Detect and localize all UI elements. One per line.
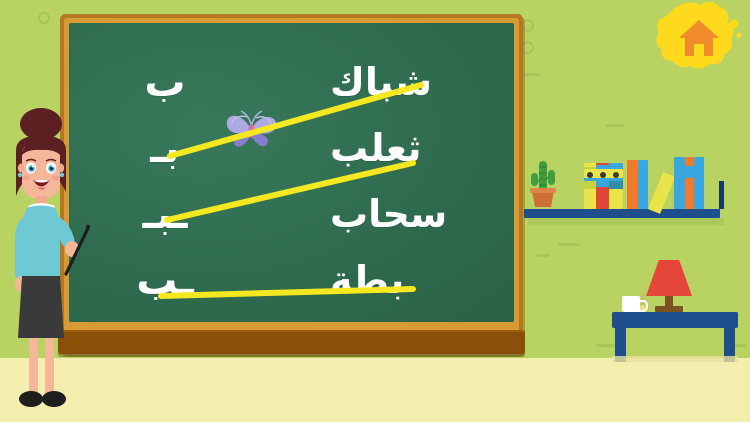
chalkboard-ledge xyxy=(58,332,525,354)
wall-doodle-dash xyxy=(606,124,624,127)
chalkboard: ب بـ ـبـ ـب شباك ثعلب سحاب بطة xyxy=(60,14,523,354)
book xyxy=(685,157,694,209)
lamp-shade xyxy=(646,260,692,296)
book xyxy=(609,189,623,209)
letter-form-isolated[interactable]: ب xyxy=(105,49,225,115)
word-text: سحاب xyxy=(330,195,447,233)
bookshelf xyxy=(524,146,724,218)
mug-handle xyxy=(638,300,648,312)
shelf-shadow xyxy=(528,218,724,225)
book xyxy=(674,157,685,209)
word-sahab[interactable]: سحاب xyxy=(330,181,500,247)
game-stage: ب بـ ـبـ ـب شباك ثعلب سحاب بطة xyxy=(0,0,750,422)
letter-glyph: ب xyxy=(144,62,185,103)
home-button[interactable] xyxy=(655,2,745,74)
word-text: بطة xyxy=(330,261,404,299)
words-column: شباك ثعلب سحاب بطة xyxy=(330,49,500,313)
book xyxy=(584,189,596,209)
book-tilted xyxy=(648,172,675,214)
teacher-character xyxy=(0,106,100,414)
shelf-plank xyxy=(524,209,720,218)
letter-glyph: ـبـ xyxy=(143,194,188,235)
table-top xyxy=(612,312,738,328)
word-text: شباك xyxy=(330,63,432,101)
book xyxy=(627,160,638,209)
book-dot xyxy=(587,172,593,178)
book-dot xyxy=(613,172,619,178)
butterfly-icon xyxy=(221,105,283,151)
word-batta[interactable]: بطة xyxy=(330,247,500,313)
shelf-bracket xyxy=(719,181,724,209)
letter-glyph: ـب xyxy=(136,260,193,301)
wall-doodle-dash xyxy=(558,243,580,246)
book xyxy=(694,157,704,209)
side-table-group xyxy=(612,256,742,362)
chalkboard-surface: ب بـ ـبـ ـب شباك ثعلب سحاب بطة xyxy=(69,23,514,322)
word-shubbak[interactable]: شباك xyxy=(330,49,500,115)
letter-forms-column: ب بـ ـبـ ـب xyxy=(105,49,225,313)
classroom-floor xyxy=(0,358,750,422)
letter-form-final[interactable]: ـب xyxy=(105,247,225,313)
table-shadow xyxy=(612,356,738,362)
letter-form-initial[interactable]: بـ xyxy=(105,115,225,181)
wall-doodle-dash xyxy=(536,254,550,257)
book-dot xyxy=(600,172,606,178)
book xyxy=(638,160,648,209)
letter-glyph: بـ xyxy=(150,128,179,169)
word-thaalab[interactable]: ثعلب xyxy=(330,115,500,181)
letter-form-medial[interactable]: ـبـ xyxy=(105,181,225,247)
wall-doodle-circle xyxy=(38,12,50,24)
word-text: ثعلب xyxy=(330,129,421,167)
book xyxy=(674,166,704,178)
cactus-icon xyxy=(528,159,558,209)
